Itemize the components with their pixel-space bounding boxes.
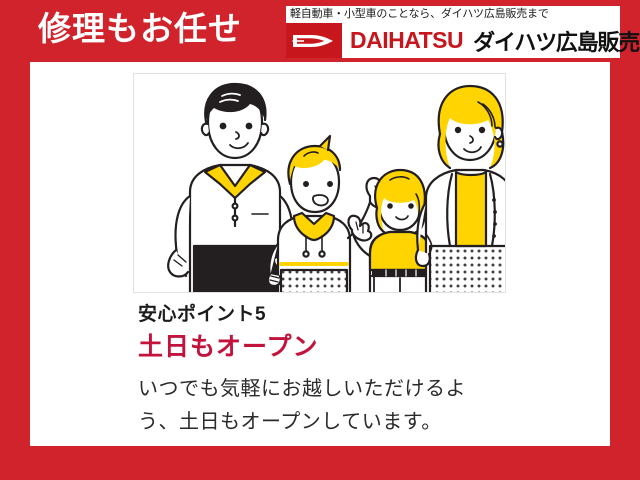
family-illustration [133,73,506,293]
header-bar: 修理もお任せ 軽自動車・小型車のことなら、ダイハツ広島販売まで DAIHATSU… [0,0,640,62]
point-headline: 土日もオープン [138,330,568,364]
logo-wordmark: DAIHATSU [350,27,463,54]
logo-row: DAIHATSU ダイハツ広島販売 [286,23,620,58]
page-title: 修理もお任せ [38,9,242,49]
point-label: 安心ポイント5 [138,302,568,328]
daihatsu-d-emblem-icon [286,23,342,58]
point-body-text: いつでも気軽にお越しいただけるよう、土日もオープンしています。 [138,373,498,439]
brand-logo-block: 軽自動車・小型車のことなら、ダイハツ広島販売まで DAIHATSU ダイハツ広島… [286,6,620,58]
logo-dealer-name: ダイハツ広島販売 [473,25,639,57]
poster-screen: 修理もお任せ 軽自動車・小型車のことなら、ダイハツ広島販売まで DAIHATSU… [0,0,640,480]
content-card: 安心ポイント5 土日もオープン いつでも気軽にお越しいただけるよう、土日もオープ… [30,62,610,446]
point-text-block: 安心ポイント5 土日もオープン いつでも気軽にお越しいただけるよう、土日もオープ… [138,302,568,439]
logo-tagline: 軽自動車・小型車のことなら、ダイハツ広島販売まで [286,6,620,23]
